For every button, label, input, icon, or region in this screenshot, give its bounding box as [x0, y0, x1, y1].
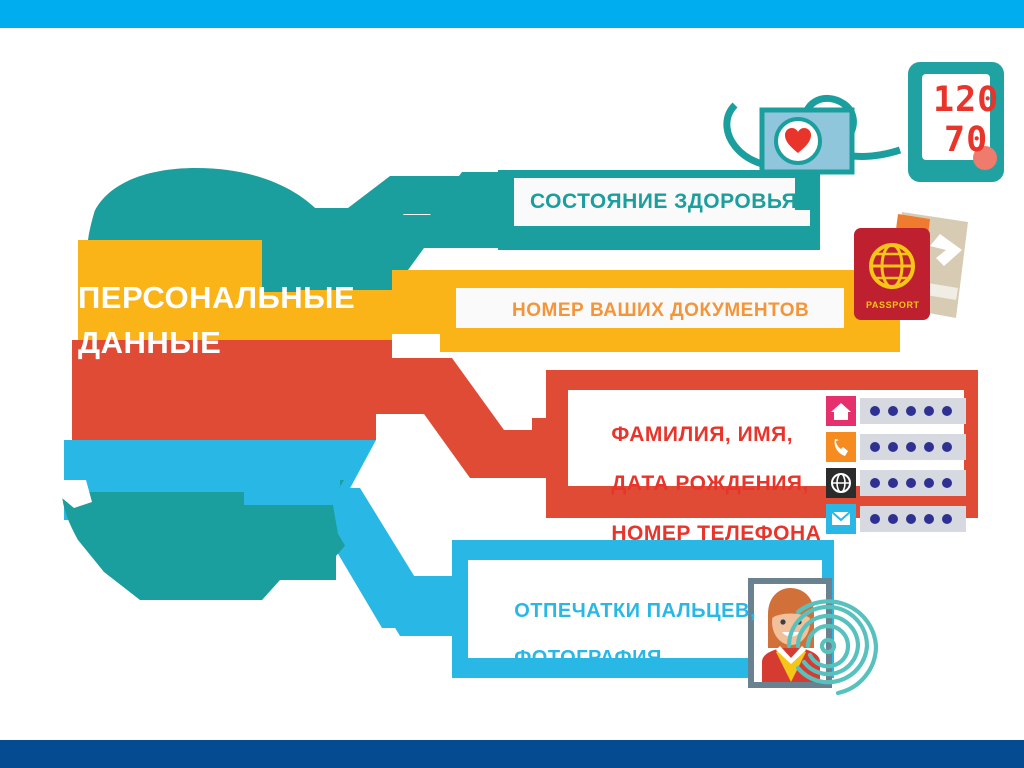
photo-fingerprint-icon: [748, 578, 876, 693]
top-rule: [0, 0, 1024, 28]
banner-documents-notch: [426, 288, 446, 324]
banner-biometrics-notch: [438, 588, 458, 628]
bottom-rule: [0, 740, 1024, 768]
passport-label: PASSPORT: [866, 300, 920, 310]
bp-diastolic-value: 70: [944, 120, 988, 160]
banner-identity-notch: [532, 418, 552, 458]
banner-health-inner: [514, 178, 810, 226]
infographic-canvas: ПЕРСОНАЛЬНЫЕ ДАННЫЕ СОСТОЯНИЕ ЗДОРОВЬЯ Н…: [0, 0, 1024, 768]
infographic-artwork: [0, 0, 1024, 768]
banner-health-notch: [484, 186, 506, 222]
bp-systolic-value: 120: [933, 80, 999, 120]
banner-documents-inner: [456, 288, 844, 328]
